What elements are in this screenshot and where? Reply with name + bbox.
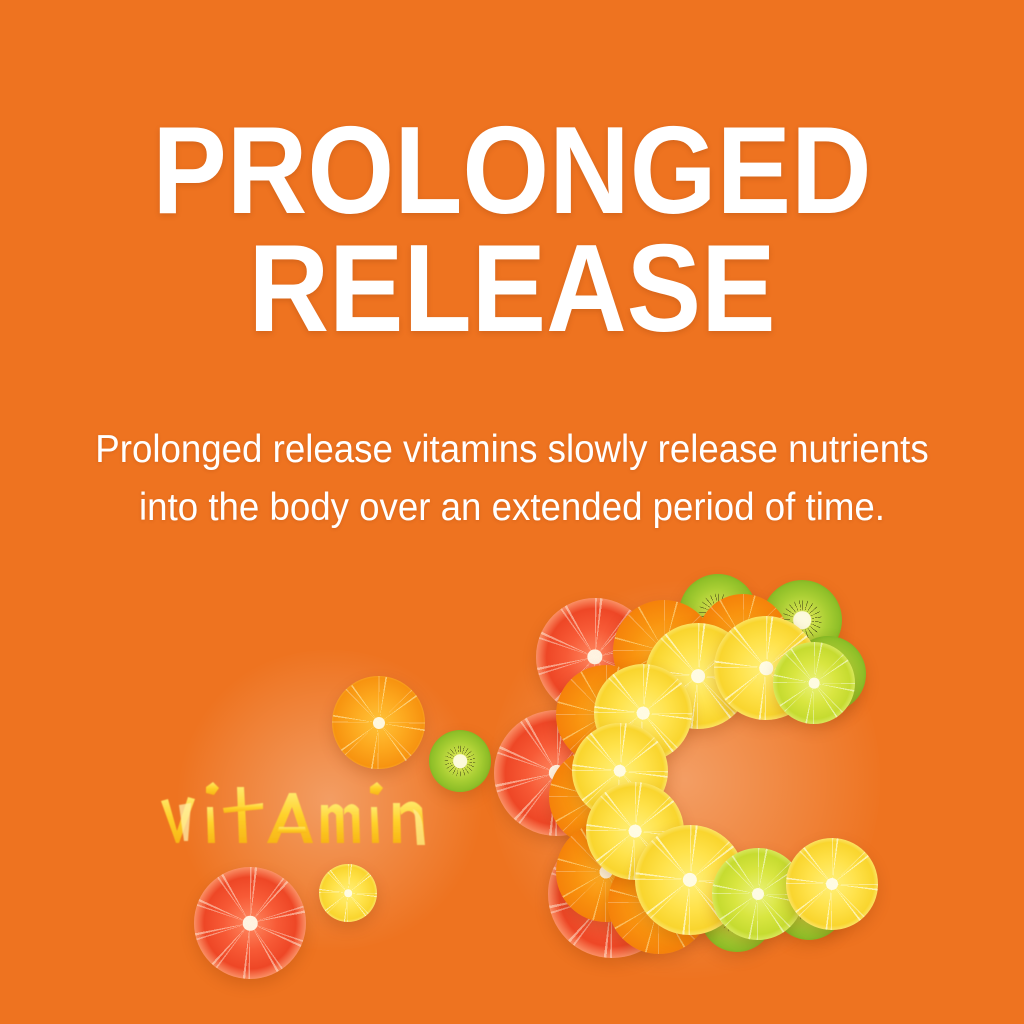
- c-lemon-lower-2: [786, 838, 878, 930]
- headline-line-1: PROLONGED: [51, 112, 973, 230]
- orange-slice: [332, 676, 425, 769]
- description-line-1: Prolonged release vitamins slowly releas…: [78, 421, 947, 479]
- headline-line-2: RELEASE: [51, 230, 973, 348]
- poster-canvas: PROLONGED RELEASE Prolonged release vita…: [0, 0, 1024, 1024]
- c-lime-upper: [773, 642, 855, 724]
- page-title: PROLONGED RELEASE: [51, 112, 973, 348]
- lemon-slice-small: [319, 864, 377, 922]
- fruit-artwork: [0, 560, 1024, 1024]
- vitamin-wordmark: [155, 775, 475, 855]
- grapefruit-slice: [194, 867, 306, 979]
- description-line-2: into the body over an extended period of…: [78, 479, 947, 537]
- description-text: Prolonged release vitamins slowly releas…: [78, 421, 947, 537]
